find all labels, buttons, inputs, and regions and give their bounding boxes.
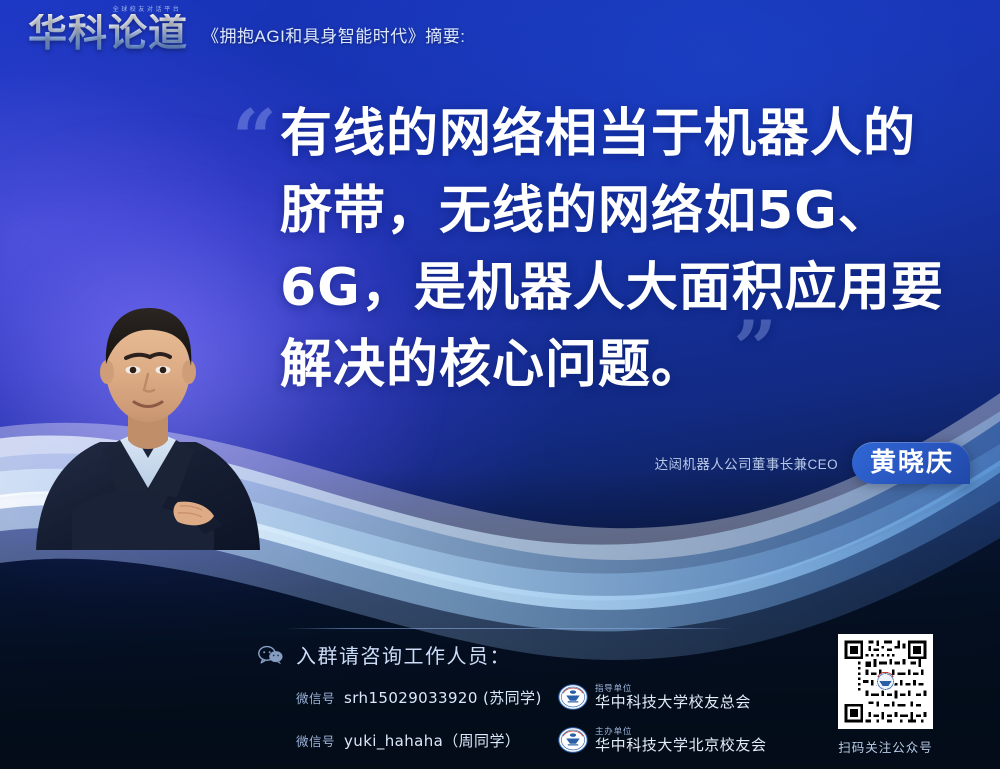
wechat-label: 微信号 (296, 731, 335, 750)
quote-lines: 有线的网络相当于机器人的 脐带，无线的网络如5G、 6G，是机器人大面积应用要 … (280, 96, 972, 404)
page-title: 《拥抱AGI和具身智能时代》摘要: (202, 22, 466, 53)
speaker-name-badge: 黄晓庆 (852, 442, 970, 484)
quote-close-mark: ” (733, 311, 778, 387)
organization-name: 华中科技大学校友总会 (595, 695, 751, 711)
logo-text: 华科论道 (28, 14, 188, 53)
quote-open-mark: “ (232, 100, 277, 178)
qr-code[interactable] (838, 634, 933, 729)
university-seal-icon (558, 682, 588, 712)
contact-item: 微信号 yuki_hahaha（周同学） (258, 730, 558, 751)
brand-logo: 全球校友对话平台 华科论道 (28, 14, 188, 53)
quote-line-text: 解决的核心问题。 (280, 335, 704, 395)
organization-text: 指导单位 华中科技大学校友总会 (595, 684, 751, 711)
organization-item: 主办单位 华中科技大学北京校友会 (558, 725, 767, 755)
footer-divider (285, 628, 733, 629)
contact-item: 微信号 srh15029033920 (苏同学) (258, 687, 558, 708)
footer-heading: 入群请咨询工作人员： (296, 640, 511, 669)
poster-header: 全球校友对话平台 华科论道 《拥抱AGI和具身智能时代》摘要: (28, 14, 466, 53)
logo-tagline: 全球校友对话平台 (82, 4, 212, 13)
quote-line: 有线的网络相当于机器人的 (280, 96, 972, 173)
organization-kind: 指导单位 (595, 684, 751, 693)
quote-line: 脐带，无线的网络如5G、 (280, 173, 972, 250)
wechat-id: yuki_hahaha（周同学） (344, 730, 520, 751)
wechat-id: srh15029033920 (苏同学) (344, 687, 542, 708)
qr-block: 扫码关注公众号 (838, 634, 933, 756)
quote-block: “ 有线的网络相当于机器人的 脐带，无线的网络如5G、 6G，是机器人大面积应用… (232, 96, 972, 404)
organization-name: 华中科技大学北京校友会 (595, 738, 767, 754)
wechat-icon (258, 645, 284, 665)
wechat-label: 微信号 (296, 688, 335, 707)
organization-kind: 主办单位 (595, 727, 767, 736)
attribution: 达闼机器人公司董事长兼CEO 黄晓庆 (655, 442, 970, 484)
poster-root: 全球校友对话平台 华科论道 《拥抱AGI和具身智能时代》摘要: (0, 0, 1000, 769)
university-seal-icon (558, 725, 588, 755)
organization-item: 指导单位 华中科技大学校友总会 (558, 682, 751, 712)
quote-line-last: 解决的核心问题。 ” (280, 327, 972, 404)
organization-text: 主办单位 华中科技大学北京校友会 (595, 727, 767, 754)
qr-caption: 扫码关注公众号 (838, 737, 933, 756)
quote-line: 6G，是机器人大面积应用要 (280, 250, 972, 327)
speaker-role: 达闼机器人公司董事长兼CEO (655, 453, 838, 473)
